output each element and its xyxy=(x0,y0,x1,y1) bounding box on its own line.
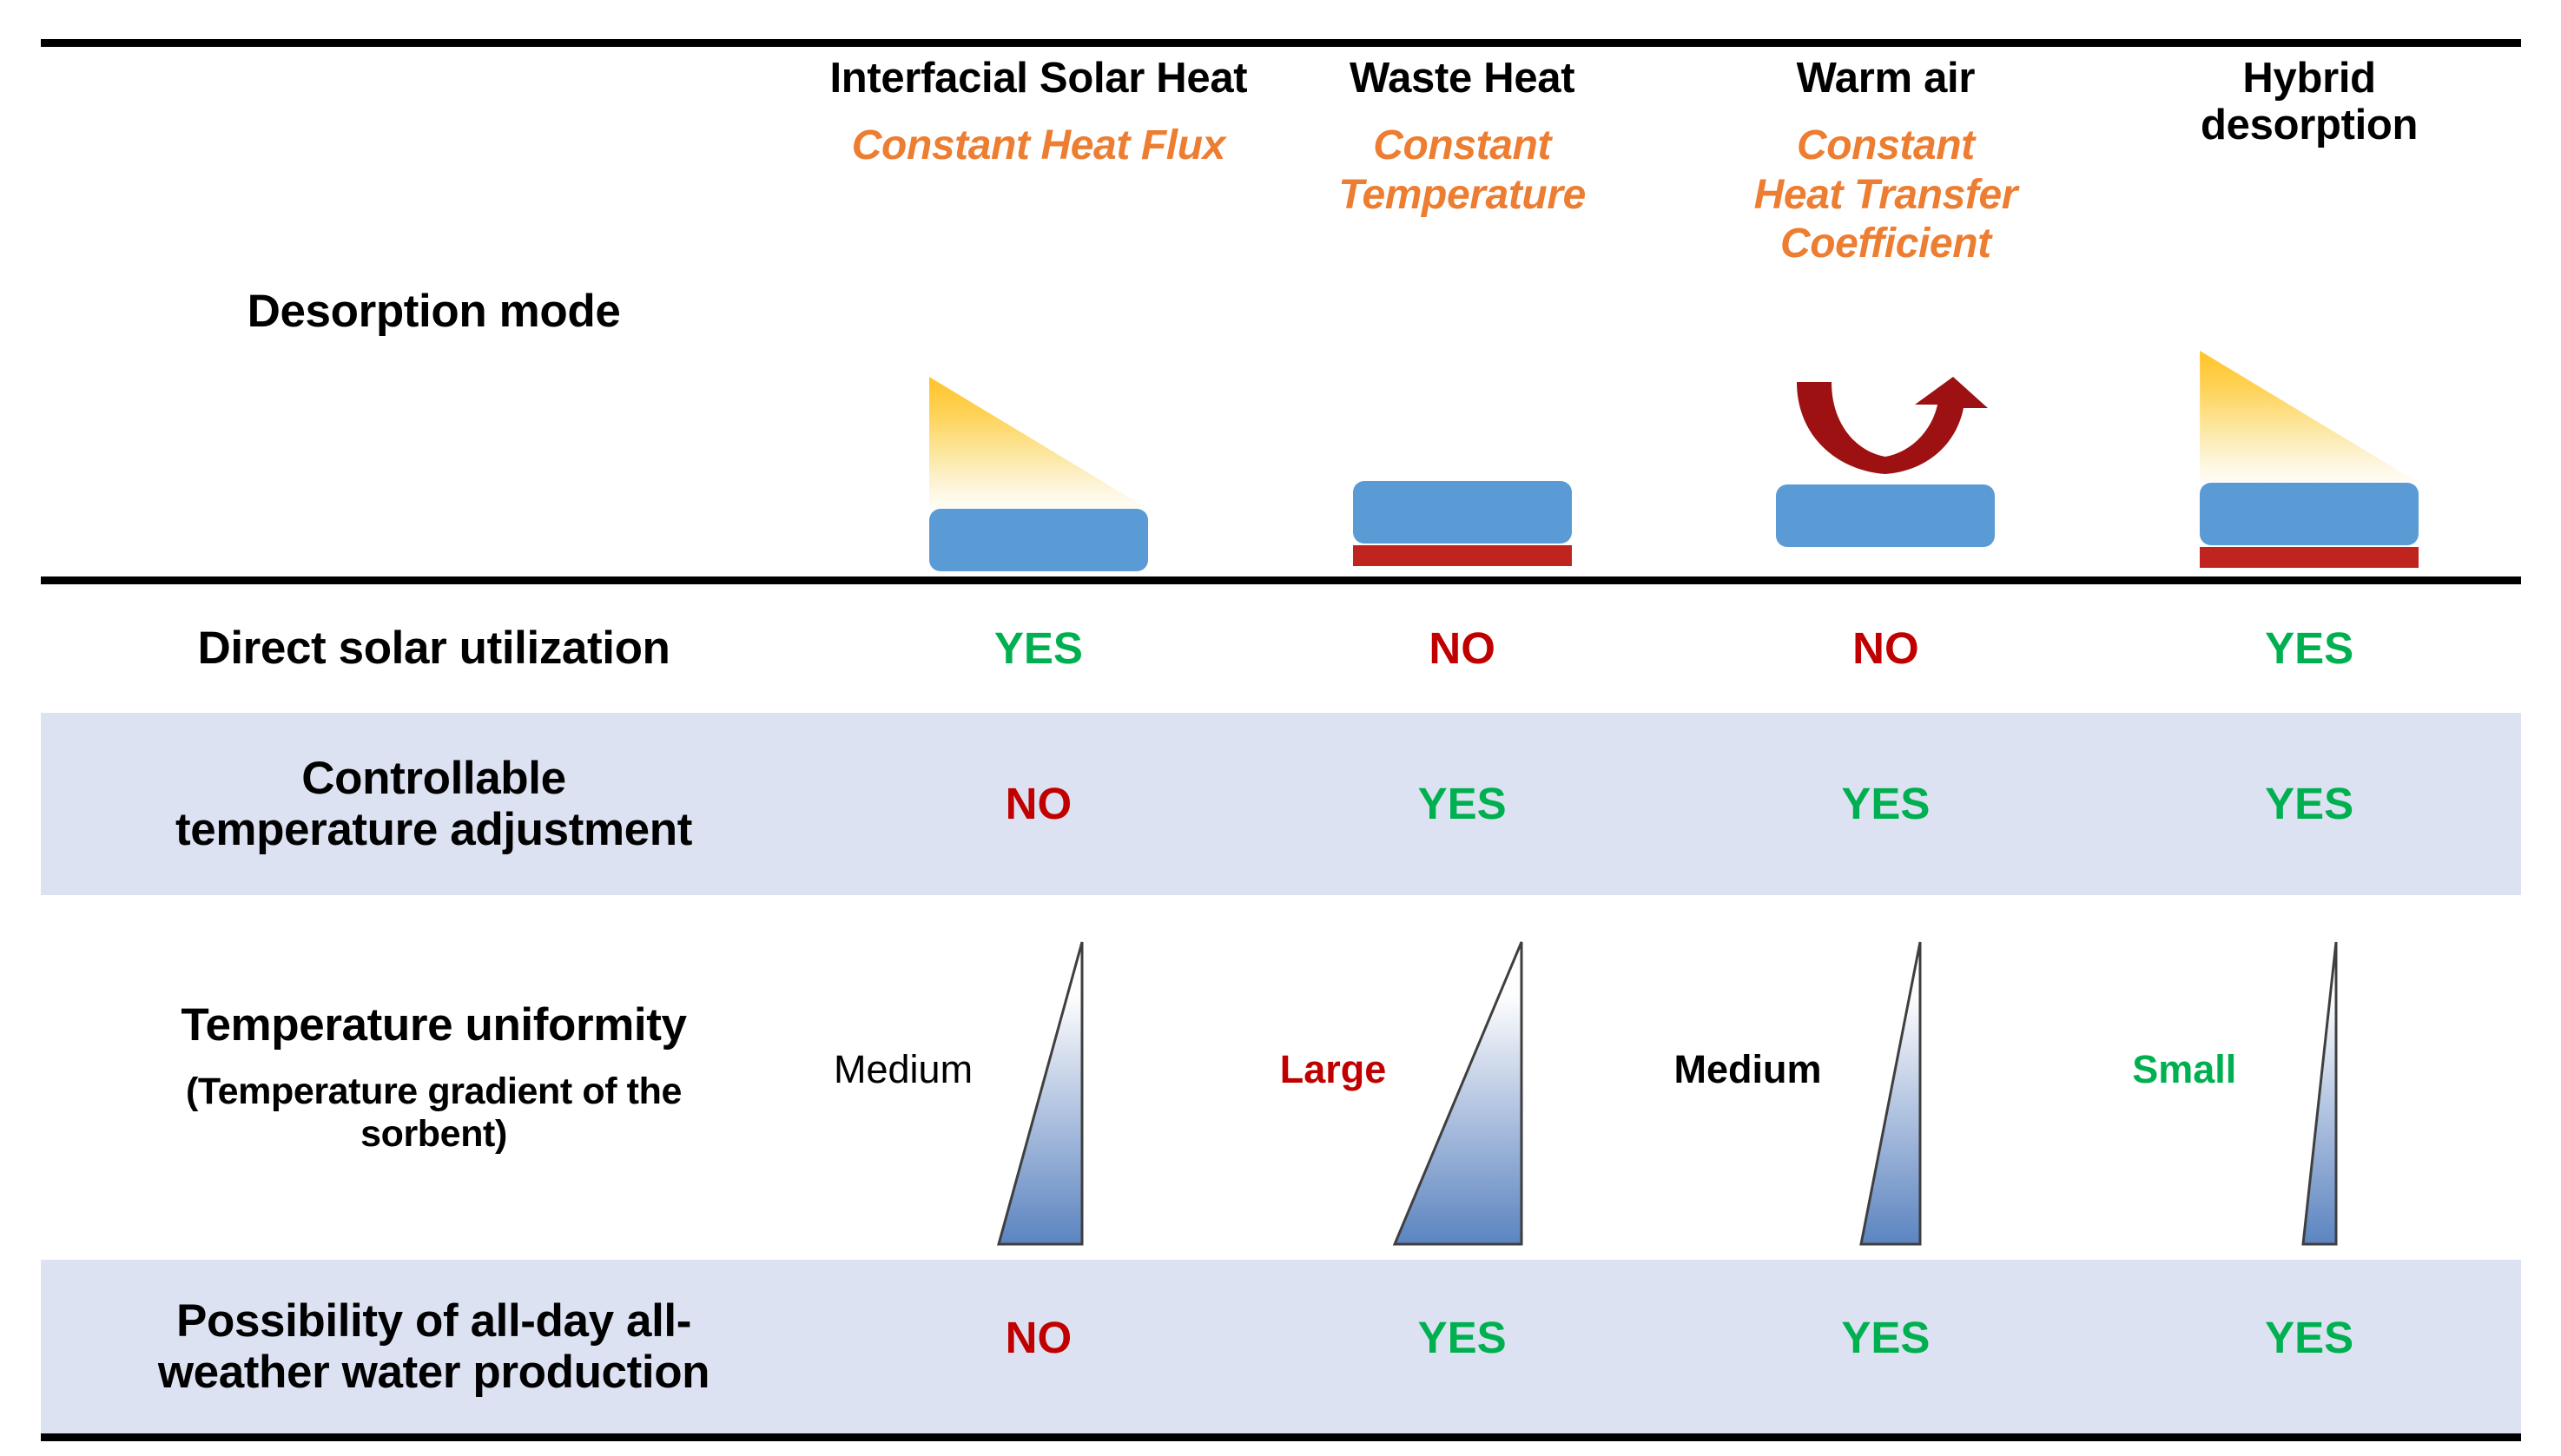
column-title: Warm air xyxy=(1797,47,1975,102)
table-top-rule xyxy=(41,39,2521,47)
cell: Small xyxy=(2097,895,2521,1260)
cell: YES xyxy=(2097,1260,2521,1433)
table-row: Desorption mode Interfacial Solar Heat C… xyxy=(41,47,2521,576)
column-hybrid-desorption: Hybriddesorption xyxy=(2097,47,2521,576)
column-subtitle: Constant Heat Flux xyxy=(852,122,1225,171)
cell: YES xyxy=(2097,584,2521,713)
verdict-value: YES xyxy=(1841,1260,1930,1416)
column-subtitle: ConstantTemperature xyxy=(1338,122,1586,220)
row-label-controllable-temperature-adjustment: Controllabletemperature adjustment xyxy=(41,713,827,895)
warm-air-arrow-icon xyxy=(1776,377,1995,474)
verdict-value: NO xyxy=(1006,713,1073,895)
row-label-text: Desorption mode xyxy=(248,286,621,337)
cell: Medium xyxy=(827,895,1251,1260)
row-label-text: Temperature uniformity xyxy=(181,999,686,1051)
gradient-triangle-icon xyxy=(1833,939,1937,1251)
row-label-all-day-all-weather-production: Possibility of all-day all-weather water… xyxy=(41,1260,827,1433)
gradient-magnitude-label: Medium xyxy=(834,1050,973,1089)
sorbent-block-icon xyxy=(1353,481,1572,544)
cell: Medium xyxy=(1674,895,2098,1260)
row-label-direct-solar-utilization: Direct solar utilization xyxy=(41,584,827,713)
column-warm-air: Warm air ConstantHeat TransferCoefficien… xyxy=(1674,47,2098,576)
gradient-triangle-icon xyxy=(1376,939,1549,1251)
gradient-triangle-cell: Medium xyxy=(1674,904,2098,1251)
table-header-rule xyxy=(41,576,2521,584)
column-waste-heat: Waste Heat ConstantTemperature xyxy=(1251,47,1674,576)
cell: NO xyxy=(1674,584,2098,713)
row-label-text: Possibility of all-day all-weather water… xyxy=(158,1295,710,1399)
gradient-triangle-cell: Small xyxy=(2097,904,2521,1251)
gradient-magnitude-label: Small xyxy=(2132,1050,2236,1089)
cell: YES xyxy=(2097,713,2521,895)
verdict-value: NO xyxy=(1429,584,1495,713)
cell: YES xyxy=(1251,1260,1674,1433)
row-label-desorption-mode: Desorption mode xyxy=(41,47,827,576)
cell: Large xyxy=(1251,895,1674,1260)
schematic-icon-warm-air-over-sorbent xyxy=(1674,285,2098,571)
verdict-value: YES xyxy=(2265,713,2353,895)
column-title: Hybriddesorption xyxy=(2201,47,2418,149)
cell: YES xyxy=(1674,1260,2098,1433)
cell: YES xyxy=(1674,713,2098,895)
cell: NO xyxy=(1251,584,1674,713)
verdict-value: YES xyxy=(994,584,1083,713)
gradient-triangle-icon xyxy=(2261,939,2357,1251)
cell: NO xyxy=(827,713,1251,895)
gradient-triangle-cell: Large xyxy=(1251,904,1674,1251)
row-label-text: Controllabletemperature adjustment xyxy=(175,753,692,856)
sorbent-block-icon xyxy=(2200,483,2419,545)
column-interfacial-solar-heat: Interfacial Solar Heat Constant Heat Flu… xyxy=(827,47,1251,576)
row-sublabel-text: (Temperature gradient of thesorbent) xyxy=(186,1071,682,1156)
sorbent-block-icon xyxy=(929,509,1148,571)
verdict-value: NO xyxy=(1852,584,1919,713)
table-row: Direct solar utilization YES NO NO YES xyxy=(41,584,2521,713)
verdict-value: YES xyxy=(1841,713,1930,895)
cell: YES xyxy=(1251,713,1674,895)
table-bottom-rule xyxy=(41,1433,2521,1441)
verdict-value: YES xyxy=(1418,713,1507,895)
verdict-value: YES xyxy=(2265,1260,2353,1416)
table-row: Temperature uniformity (Temperature grad… xyxy=(41,895,2521,1260)
heater-bar-icon xyxy=(1353,545,1572,566)
verdict-value: YES xyxy=(1418,1260,1507,1416)
gradient-triangle-cell: Medium xyxy=(827,904,1251,1251)
column-title: Waste Heat xyxy=(1350,47,1574,102)
comparison-table-figure: Desorption mode Interfacial Solar Heat C… xyxy=(0,0,2561,1456)
gradient-magnitude-label: Medium xyxy=(1674,1050,1822,1089)
cell: NO xyxy=(827,1260,1251,1433)
sun-wedge-icon xyxy=(929,377,1148,509)
gradient-magnitude-label: Large xyxy=(1280,1050,1387,1089)
gradient-triangle-icon xyxy=(978,939,1099,1251)
table-row: Controllabletemperature adjustment NO YE… xyxy=(41,713,2521,895)
row-label-text: Direct solar utilization xyxy=(197,623,670,674)
heater-bar-icon xyxy=(2200,547,2419,568)
sun-wedge-icon xyxy=(2200,351,2419,483)
schematic-icon-hybrid xyxy=(2097,285,2521,571)
cell: YES xyxy=(827,584,1251,713)
schematic-icon-sorbent-on-heater xyxy=(1251,285,1674,571)
sorbent-block-icon xyxy=(1776,484,1995,547)
verdict-value: YES xyxy=(2265,584,2353,713)
table-row: Possibility of all-day all-weather water… xyxy=(41,1260,2521,1433)
desorption-mode-table: Desorption mode Interfacial Solar Heat C… xyxy=(41,39,2521,1441)
schematic-icon-solar-wedge-on-sorbent xyxy=(827,285,1251,571)
row-label-temperature-uniformity: Temperature uniformity (Temperature grad… xyxy=(41,895,827,1260)
column-subtitle: ConstantHeat TransferCoefficient xyxy=(1754,122,2017,269)
verdict-value: NO xyxy=(1006,1260,1073,1416)
column-title: Interfacial Solar Heat xyxy=(829,47,1247,102)
